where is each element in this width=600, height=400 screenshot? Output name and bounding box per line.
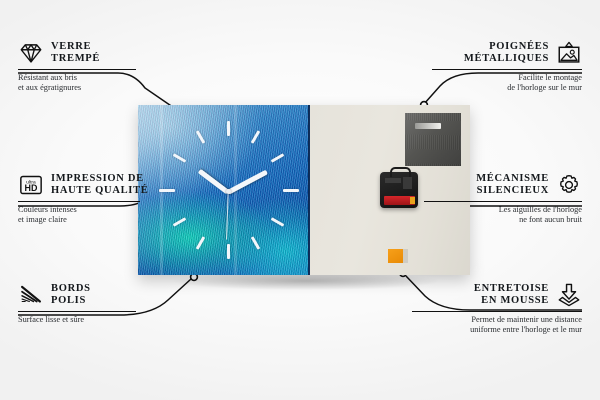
feature-entretoise-en-mousse: ENTRETOISE EN MOUSSE Permet de maintenir… [412, 282, 582, 335]
feature-rule [412, 311, 582, 312]
clock-tick [283, 189, 299, 192]
feature-title: VERRE TREMPÉ [51, 41, 100, 66]
clock-tick [251, 236, 261, 250]
diamond-icon [18, 40, 44, 66]
feature-subtitle: Surface lisse et sûre [18, 315, 168, 325]
clock-tick [227, 121, 230, 136]
clock-tick [271, 217, 285, 227]
feature-title: POIGNÉES MÉTALLIQUES [464, 41, 549, 66]
clock-mechanism [380, 172, 418, 208]
mechanism-hook [390, 167, 411, 177]
battery-terminal [410, 197, 415, 204]
feature-mecanisme-silencieux: MÉCANISME SILENCIEUX Les aiguilles de l'… [424, 172, 582, 225]
feature-title: MÉCANISME SILENCIEUX [476, 173, 549, 198]
feature-verre-trempe: VERRE TREMPÉ Résistant aux bris et aux é… [18, 40, 168, 93]
feature-subtitle: Facilite le montage [432, 73, 582, 83]
mechanism-detail [403, 177, 412, 189]
feature-bords-polis: BORDS POLIS Surface lisse et sûre [18, 282, 168, 325]
feature-header: ENTRETOISE EN MOUSSE [412, 282, 582, 308]
infographic-canvas: VERRE TREMPÉ Résistant aux bris et aux é… [0, 0, 600, 400]
feature-poignees-metalliques: POIGNÉES MÉTALLIQUES Facilite le montage… [432, 40, 582, 93]
clock-tick [173, 153, 187, 163]
clock-tick [196, 130, 206, 144]
clock-tick [196, 236, 206, 250]
feature-header: POIGNÉES MÉTALLIQUES [432, 40, 582, 66]
feature-subtitle: Les aiguilles de l'horloge [424, 205, 582, 215]
feature-subtitle: ne font aucun bruit [424, 215, 582, 225]
foam-spacer-icon [556, 282, 582, 308]
feature-subtitle: uniforme entre l'horloge et le mur [412, 325, 582, 335]
feature-title: IMPRESSION DE HAUTE QUALITÉ [51, 173, 149, 198]
ultra-hd-icon: ultra HD [18, 172, 44, 198]
bracket-slot [415, 123, 441, 129]
mechanism-detail [385, 178, 401, 183]
feature-rule [424, 201, 582, 202]
feature-header: BORDS POLIS [18, 282, 168, 308]
feature-header: MÉCANISME SILENCIEUX [424, 172, 582, 198]
clock-tick [227, 244, 230, 259]
clock-tick [251, 130, 261, 144]
feature-subtitle: de l'horloge sur le mur [432, 83, 582, 93]
clock-tick [271, 153, 285, 163]
foam-spacer [388, 249, 403, 263]
feature-impression-haute-qualite: ultra HD IMPRESSION DE HAUTE QUALITÉ Cou… [18, 172, 178, 225]
feature-subtitle: et image claire [18, 215, 178, 225]
clock-hand-second [226, 192, 229, 240]
feature-subtitle: Permet de maintenir une distance [412, 315, 582, 325]
product-image [138, 105, 470, 275]
feature-header: VERRE TREMPÉ [18, 40, 168, 66]
feature-subtitle: et aux égratignures [18, 83, 168, 93]
picture-hanger-icon [556, 40, 582, 66]
feature-title: ENTRETOISE EN MOUSSE [474, 283, 549, 308]
feature-rule [432, 69, 582, 70]
svg-text:HD: HD [25, 183, 38, 193]
feature-header: ultra HD IMPRESSION DE HAUTE QUALITÉ [18, 172, 178, 198]
feature-rule [18, 69, 136, 70]
gear-icon [556, 172, 582, 198]
clock-center-cap [226, 189, 231, 194]
clock-hand-hour [198, 169, 230, 195]
feature-title: BORDS POLIS [51, 283, 91, 308]
feature-rule [18, 311, 136, 312]
feature-subtitle: Couleurs intenses [18, 205, 178, 215]
foam-spacer-edge [403, 249, 408, 263]
polished-edges-icon [18, 282, 44, 308]
feature-subtitle: Résistant aux bris [18, 73, 168, 83]
metal-hanger-bracket [405, 113, 461, 166]
feature-rule [18, 201, 140, 202]
clock-hand-minute [227, 170, 268, 195]
